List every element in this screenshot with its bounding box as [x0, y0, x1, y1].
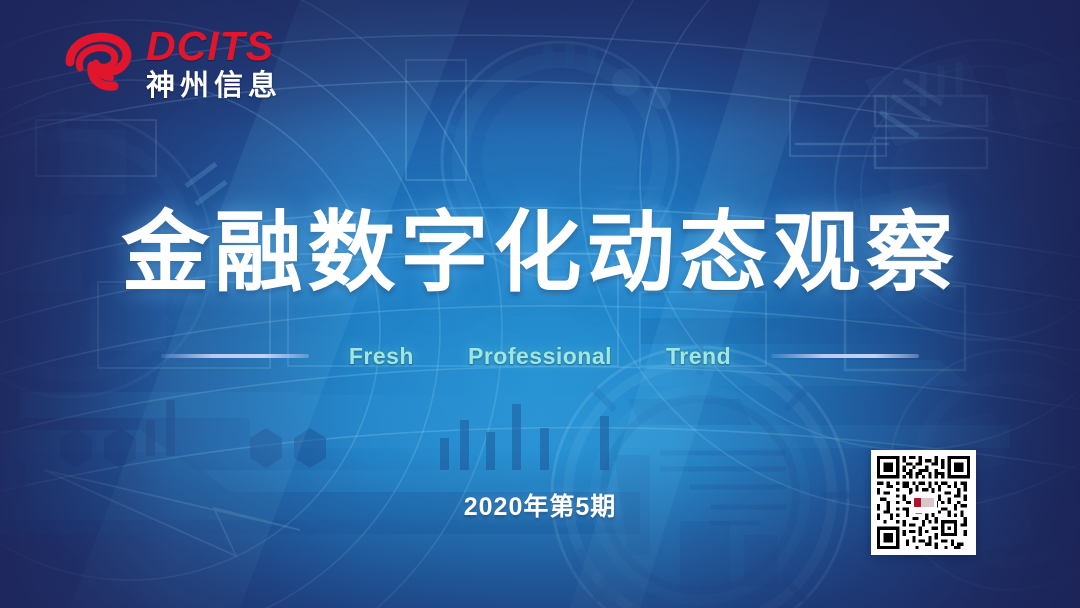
- divider-right: [771, 354, 919, 358]
- divider-left: [161, 354, 309, 358]
- keyword-fresh: Fresh: [349, 343, 414, 370]
- brand-logo: DCITS 神州信息: [62, 26, 282, 101]
- brand-name-en: DCITS: [146, 26, 282, 67]
- qr-center-logo-mark: [914, 498, 934, 507]
- presentation-slide: DCITS 神州信息 金融数字化动态观察 Fresh Professional …: [0, 0, 1080, 608]
- qr-center-logo: [911, 493, 937, 513]
- qr-code[interactable]: [871, 450, 976, 555]
- keyword-row: Fresh Professional Trend: [0, 340, 1080, 372]
- keyword-professional: Professional: [468, 343, 612, 370]
- keyword-trend: Trend: [666, 343, 731, 370]
- dcits-swirl-icon: [62, 28, 136, 100]
- page-title: 金融数字化动态观察: [0, 182, 1080, 309]
- brand-name-cn: 神州信息: [146, 72, 282, 101]
